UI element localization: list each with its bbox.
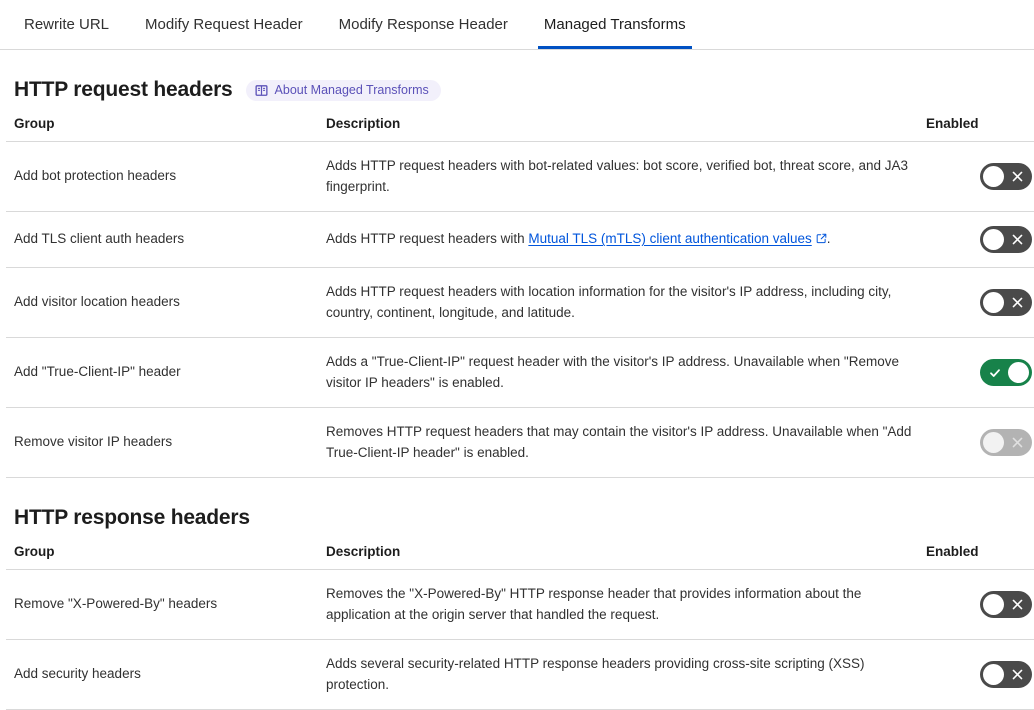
column-header-group: Group (6, 544, 326, 570)
mtls-docs-link[interactable]: Mutual TLS (mTLS) client authentication … (528, 231, 811, 246)
row-description: Removes HTTP request headers that may co… (326, 408, 926, 478)
column-header-enabled: Enabled (926, 544, 1034, 570)
toggle-add-security-headers[interactable] (980, 661, 1032, 688)
toggle-knob (983, 664, 1004, 685)
page-title: HTTP request headers (14, 78, 233, 102)
description-suffix: . (827, 231, 831, 246)
table-row: Remove "X-Powered-By" headers Removes th… (6, 570, 1034, 640)
row-description: Adds HTTP request headers with Mutual TL… (326, 212, 926, 268)
close-icon (1012, 591, 1023, 618)
row-description: Adds HTTP request headers with location … (326, 268, 926, 338)
close-icon (1012, 289, 1023, 316)
toggle-add-tls-client-auth-headers[interactable] (980, 226, 1032, 253)
row-enabled-cell (926, 640, 1034, 710)
row-description: Adds a "True-Client-IP" request header w… (326, 338, 926, 408)
link-label: Mutual TLS (mTLS) client authentication … (528, 231, 811, 246)
table-row: Add security headers Adds several securi… (6, 640, 1034, 710)
about-managed-transforms-link[interactable]: About Managed Transforms (246, 80, 441, 101)
row-enabled-cell (926, 142, 1034, 212)
response-section-header: HTTP response headers (6, 506, 1028, 530)
toggle-add-true-client-ip-header[interactable] (980, 359, 1032, 386)
toggle-knob (1008, 362, 1029, 383)
column-header-enabled: Enabled (926, 116, 1034, 142)
about-badge-label: About Managed Transforms (275, 84, 429, 97)
toggle-remove-visitor-ip-headers (980, 429, 1032, 456)
toggle-add-visitor-location-headers[interactable] (980, 289, 1032, 316)
tab-rewrite-url[interactable]: Rewrite URL (6, 0, 127, 48)
row-group-label: Remove visitor IP headers (6, 408, 326, 478)
row-enabled-cell (926, 408, 1034, 478)
table-header-row: Group Description Enabled (6, 116, 1034, 142)
request-section-header: HTTP request headers About Managed Trans… (6, 78, 1028, 102)
row-group-label: Add visitor location headers (6, 268, 326, 338)
tab-modify-request-header[interactable]: Modify Request Header (127, 0, 321, 48)
toggle-knob (983, 166, 1004, 187)
book-icon (255, 84, 268, 97)
row-description: Adds HTTP request headers with bot-relat… (326, 142, 926, 212)
column-header-description: Description (326, 116, 926, 142)
row-group-label: Add "True-Client-IP" header (6, 338, 326, 408)
check-icon (989, 359, 1001, 386)
response-section-title: HTTP response headers (14, 506, 250, 530)
toggle-knob (983, 432, 1004, 453)
tab-managed-transforms[interactable]: Managed Transforms (526, 0, 704, 48)
row-description: Adds several security-related HTTP respo… (326, 640, 926, 710)
row-enabled-cell (926, 268, 1034, 338)
row-enabled-cell (926, 212, 1034, 268)
row-description: Removes the "X-Powered-By" HTTP response… (326, 570, 926, 640)
row-group-label: Remove "X-Powered-By" headers (6, 570, 326, 640)
close-icon (1012, 429, 1023, 456)
row-group-label: Add bot protection headers (6, 142, 326, 212)
row-group-label: Add TLS client auth headers (6, 212, 326, 268)
toggle-knob (983, 594, 1004, 615)
close-icon (1012, 163, 1023, 190)
response-headers-table: Group Description Enabled Remove "X-Powe… (6, 544, 1034, 710)
toggle-add-bot-protection-headers[interactable] (980, 163, 1032, 190)
table-row: Remove visitor IP headers Removes HTTP r… (6, 408, 1034, 478)
toggle-knob (983, 229, 1004, 250)
toggle-remove-x-powered-by-headers[interactable] (980, 591, 1032, 618)
table-row: Add visitor location headers Adds HTTP r… (6, 268, 1034, 338)
table-row: Add bot protection headers Adds HTTP req… (6, 142, 1034, 212)
tab-bar: Rewrite URL Modify Request Header Modify… (0, 0, 1034, 50)
external-link-icon (816, 230, 827, 241)
description-prefix: Adds HTTP request headers with (326, 231, 528, 246)
toggle-knob (983, 292, 1004, 313)
close-icon (1012, 661, 1023, 688)
tab-modify-response-header[interactable]: Modify Response Header (321, 0, 526, 48)
column-header-group: Group (6, 116, 326, 142)
row-enabled-cell (926, 338, 1034, 408)
request-headers-table: Group Description Enabled Add bot protec… (6, 116, 1034, 478)
row-group-label: Add security headers (6, 640, 326, 710)
close-icon (1012, 226, 1023, 253)
row-enabled-cell (926, 570, 1034, 640)
table-header-row: Group Description Enabled (6, 544, 1034, 570)
table-row: Add TLS client auth headers Adds HTTP re… (6, 212, 1034, 268)
table-row: Add "True-Client-IP" header Adds a "True… (6, 338, 1034, 408)
column-header-description: Description (326, 544, 926, 570)
page-content: HTTP request headers About Managed Trans… (0, 78, 1034, 710)
